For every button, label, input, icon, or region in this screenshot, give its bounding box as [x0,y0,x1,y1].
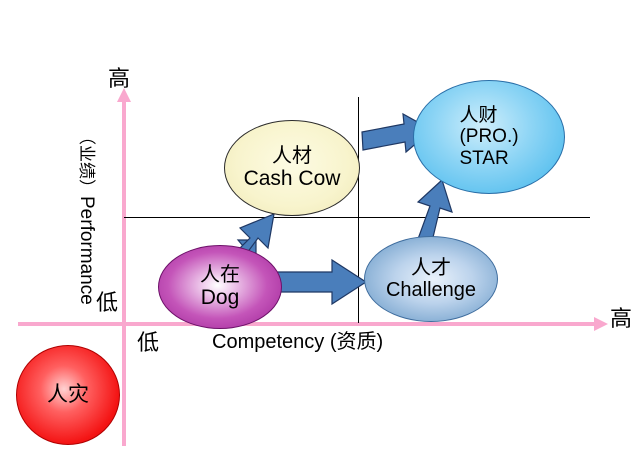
node-challenge-cn: 人才 [411,257,451,279]
y-axis-title-cn: （业绩） [77,128,96,196]
node-challenge-en: Challenge [386,279,476,301]
node-cash-cow[interactable]: 人材 Cash Cow [224,120,360,216]
y-axis-low-label: 低 [96,292,118,314]
diagram-canvas: 高 低 低 高 Competency (资质) （业绩）Performance … [0,0,640,470]
node-star-cn: 人财 [459,105,518,126]
node-cash-cow-cn: 人材 [272,145,312,167]
y-axis-line [122,100,126,326]
node-disaster[interactable]: 人灾 [16,345,120,445]
y-axis-title: （业绩）Performance [76,128,96,278]
y-axis-high-label: 高 [108,68,130,90]
x-axis-low-label: 低 [137,332,159,354]
node-cash-cow-en: Cash Cow [244,167,341,191]
x-axis-line [18,322,596,326]
node-star-en-star: STAR [459,148,518,169]
x-axis-title: Competency (资质) [212,332,383,352]
node-disaster-cn: 人灾 [47,383,89,407]
y-axis-title-en: Performance [76,196,97,305]
node-dog[interactable]: 人在 Dog [158,245,282,329]
node-star[interactable]: 人财 (PRO.) STAR [413,80,565,194]
node-dog-cn: 人在 [200,264,240,286]
arrow-dog-to-challenge [276,258,368,310]
node-star-en-pro: (PRO.) [459,126,518,147]
quadrant-divider-horizontal [124,217,590,218]
x-axis-high-label: 高 [610,308,632,330]
y-axis-line-lower [122,326,126,446]
node-challenge[interactable]: 人才 Challenge [364,236,498,322]
x-axis-arrowhead [594,317,608,331]
node-dog-en: Dog [201,286,240,310]
